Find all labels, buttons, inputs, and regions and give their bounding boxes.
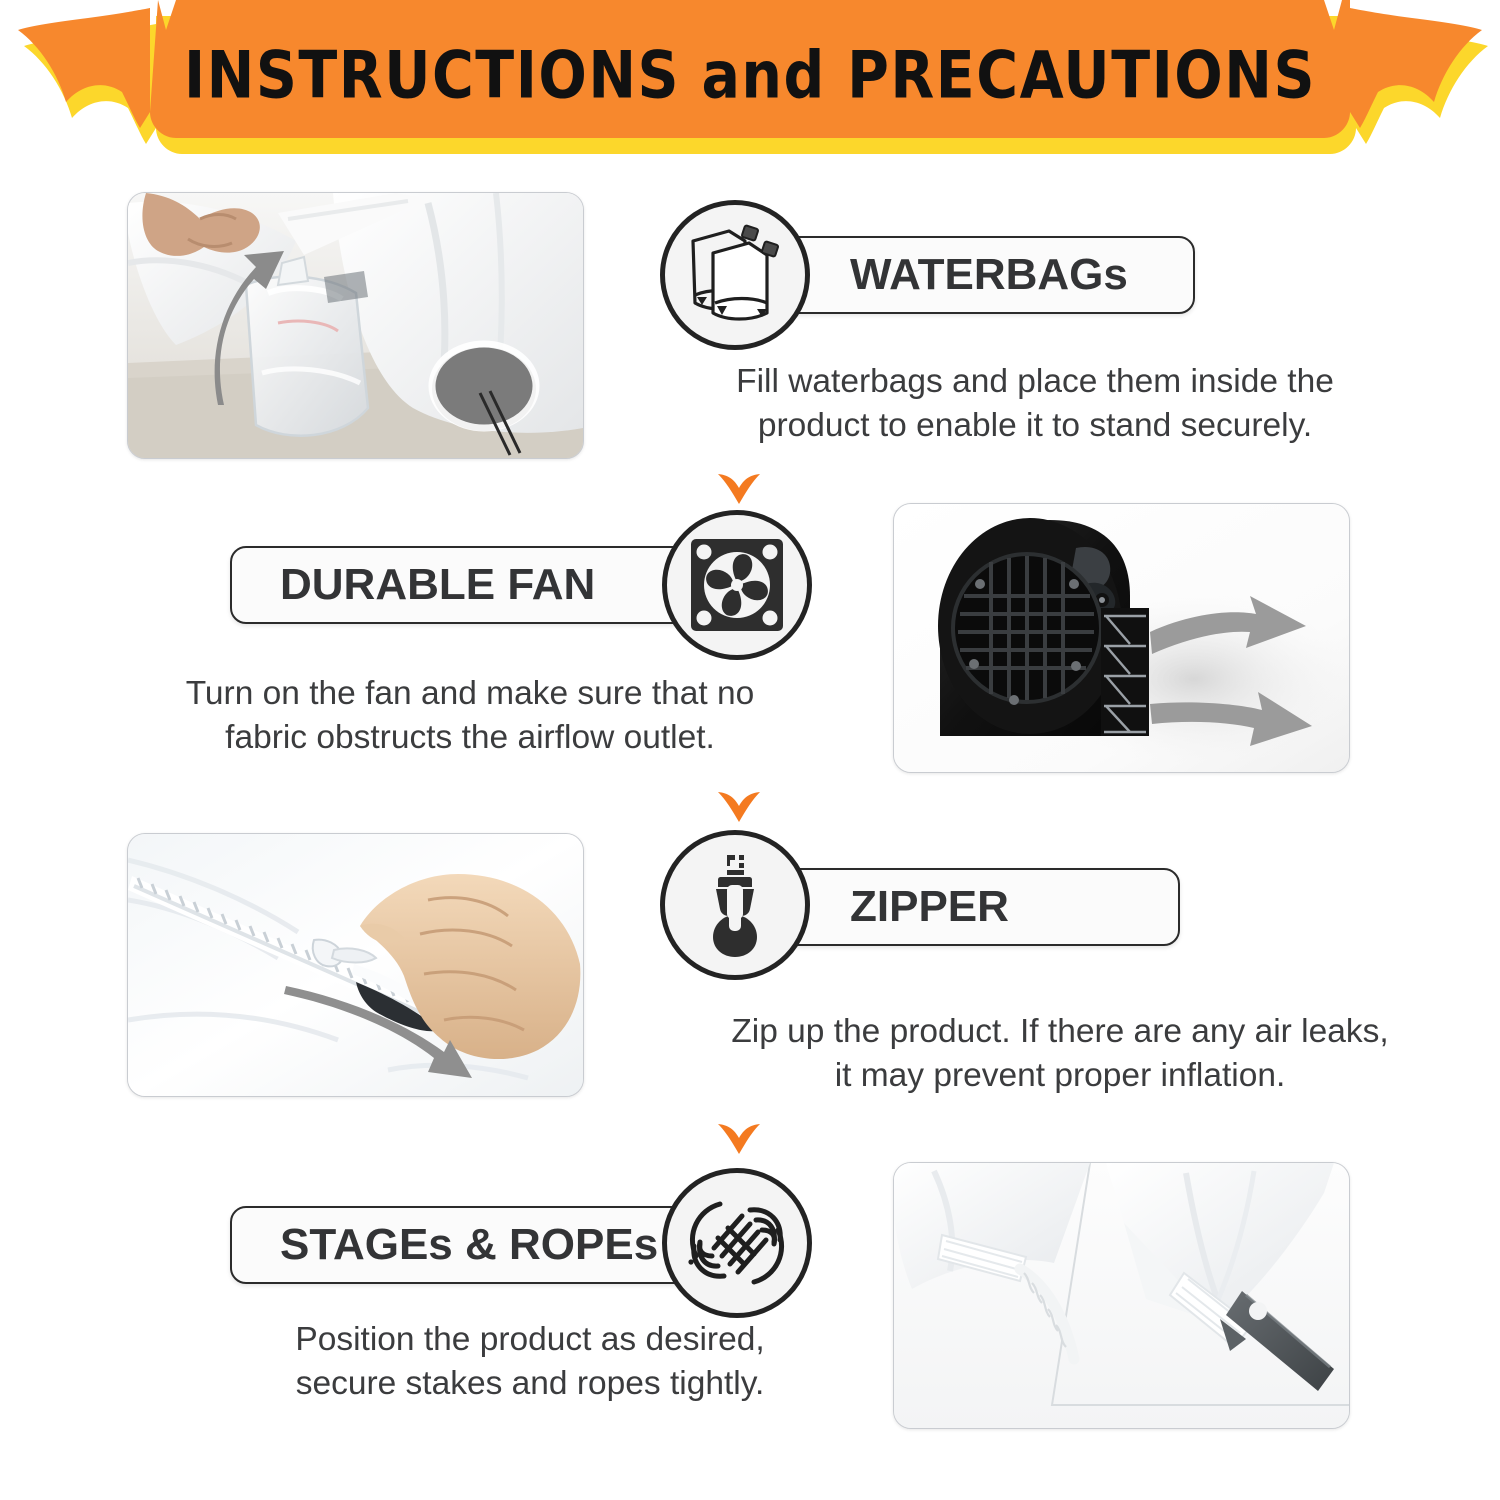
step-2-photo [893, 503, 1350, 773]
page-title: INSTRUCTIONS and PRECAUTIONS [0, 44, 1500, 109]
zipper-icon [683, 853, 787, 957]
step-2-badge [662, 510, 812, 660]
waterbag-photo-illustration [128, 193, 583, 458]
blower-fan-photo-illustration [894, 504, 1349, 772]
waterbags-icon [683, 223, 787, 327]
step-2-description: Turn on the fan and make sure that no fa… [140, 672, 800, 759]
step-4-photo [893, 1162, 1350, 1429]
step-3-photo [127, 833, 584, 1097]
step-4-badge [662, 1168, 812, 1318]
header-banner: INSTRUCTIONS and PRECAUTIONS [0, 0, 1500, 165]
step-3-description: Zip up the product. If there are any air… [690, 1010, 1430, 1097]
zipper-photo-illustration [128, 834, 583, 1096]
step-3-label: ZIPPER [850, 885, 1009, 929]
step-4-chip[interactable]: STAGEs & ROPEs [230, 1206, 700, 1284]
step-4-label: STAGEs & ROPEs [280, 1223, 658, 1267]
step-1-label: WATERBAGs [850, 253, 1128, 297]
step-4-description: Position the product as desired, secure … [200, 1318, 860, 1405]
instructions-infographic: INSTRUCTIONS and PRECAUTIONS [0, 0, 1500, 1500]
arrow-down-icon-3 [716, 1122, 762, 1156]
step-1-badge [660, 200, 810, 350]
step-3-badge [660, 830, 810, 980]
arrow-down-icon-1 [716, 472, 762, 506]
rope-coil-icon [684, 1190, 790, 1296]
step-1-photo [127, 192, 584, 459]
step-2-chip[interactable]: DURABLE FAN [230, 546, 700, 624]
step-2-label: DURABLE FAN [280, 563, 595, 607]
step-1-description: Fill waterbags and place them inside the… [690, 360, 1380, 447]
fan-icon [685, 533, 789, 637]
stakes-ropes-photo-illustration [894, 1163, 1349, 1428]
arrow-down-icon-2 [716, 790, 762, 824]
